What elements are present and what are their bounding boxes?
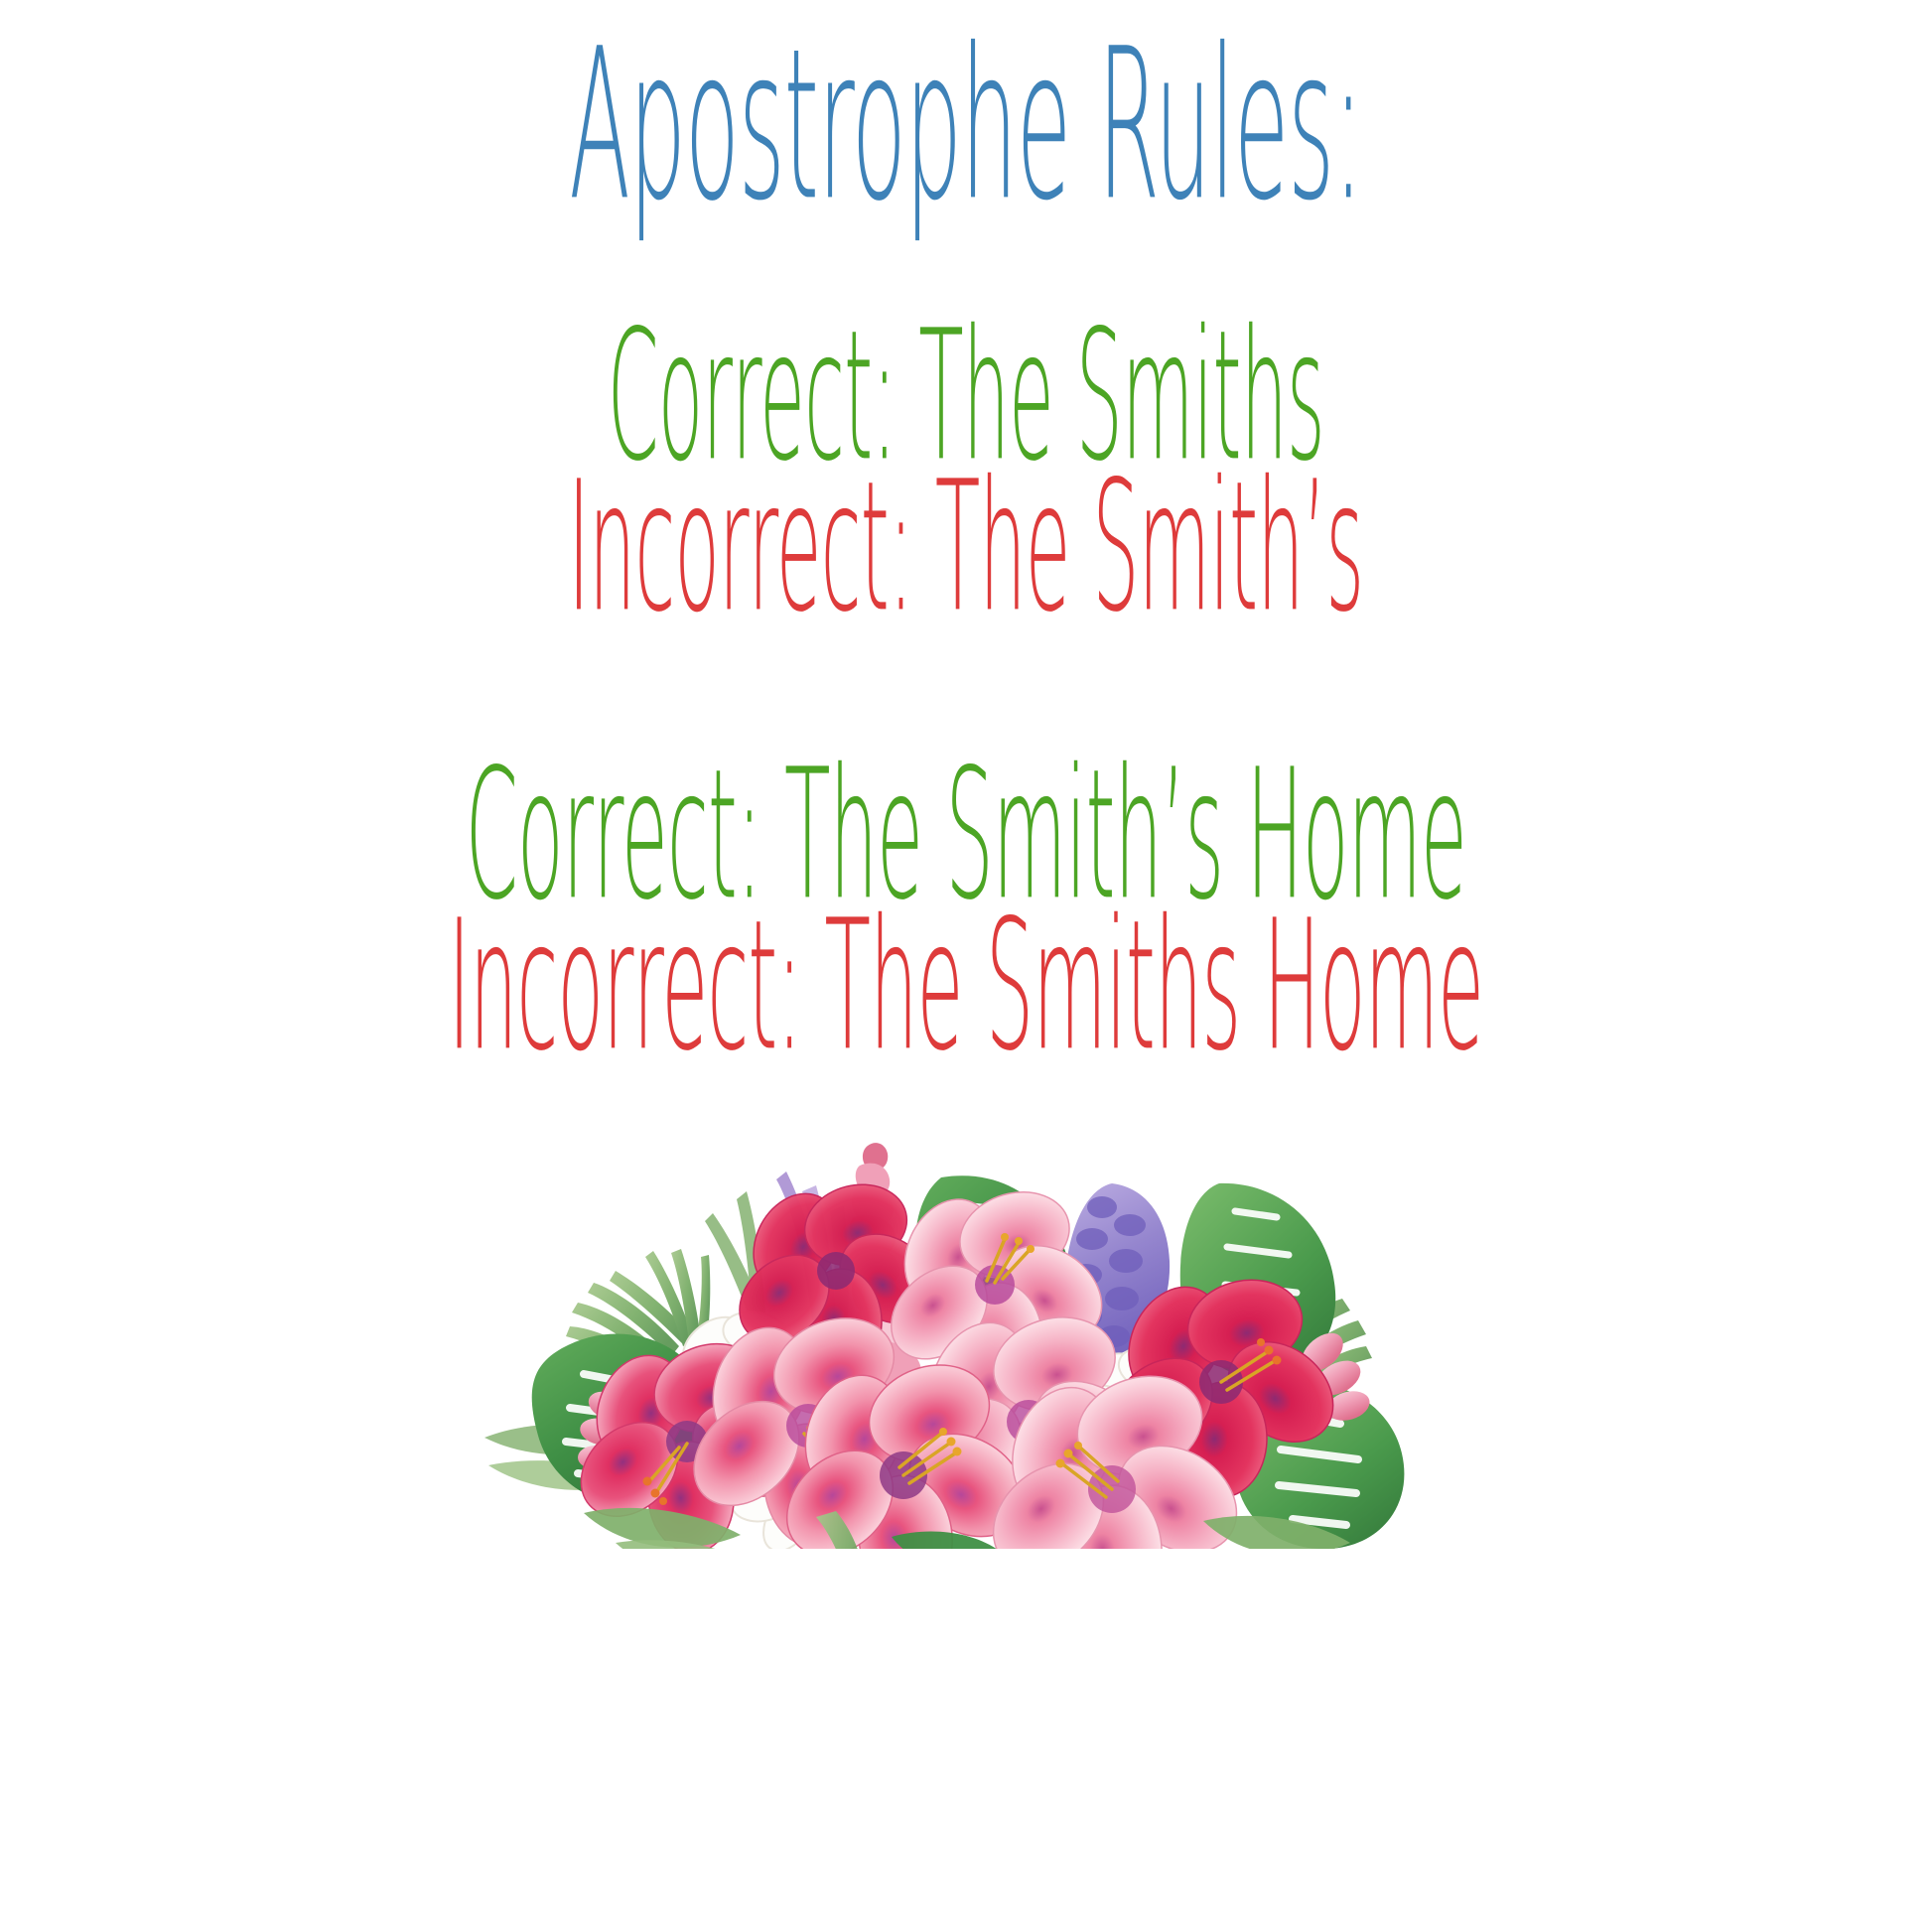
- apostrophe-rules-poster: Apostrophe Rules: Correct: The Smiths In…: [0, 0, 1932, 1932]
- tropical-floral-bouquet-illustration: [467, 1122, 1469, 1549]
- rule-1-correct-line: Correct: The Smiths: [0, 336, 1932, 459]
- rule-1-incorrect-line: Incorrect: The Smith’s: [0, 486, 1932, 610]
- page-title-text: Apostrophe Rules:: [570, 22, 1363, 230]
- rule-2-incorrect-line: Incorrect: The Smiths Home: [0, 925, 1932, 1048]
- page-title: Apostrophe Rules:: [0, 52, 1932, 201]
- rule-2-incorrect-text: Incorrect: The Smiths Home: [449, 897, 1484, 1076]
- rule-2-correct-line: Correct: The Smith’s Home: [0, 774, 1932, 897]
- rule-1-incorrect-text: Incorrect: The Smith’s: [568, 458, 1363, 637]
